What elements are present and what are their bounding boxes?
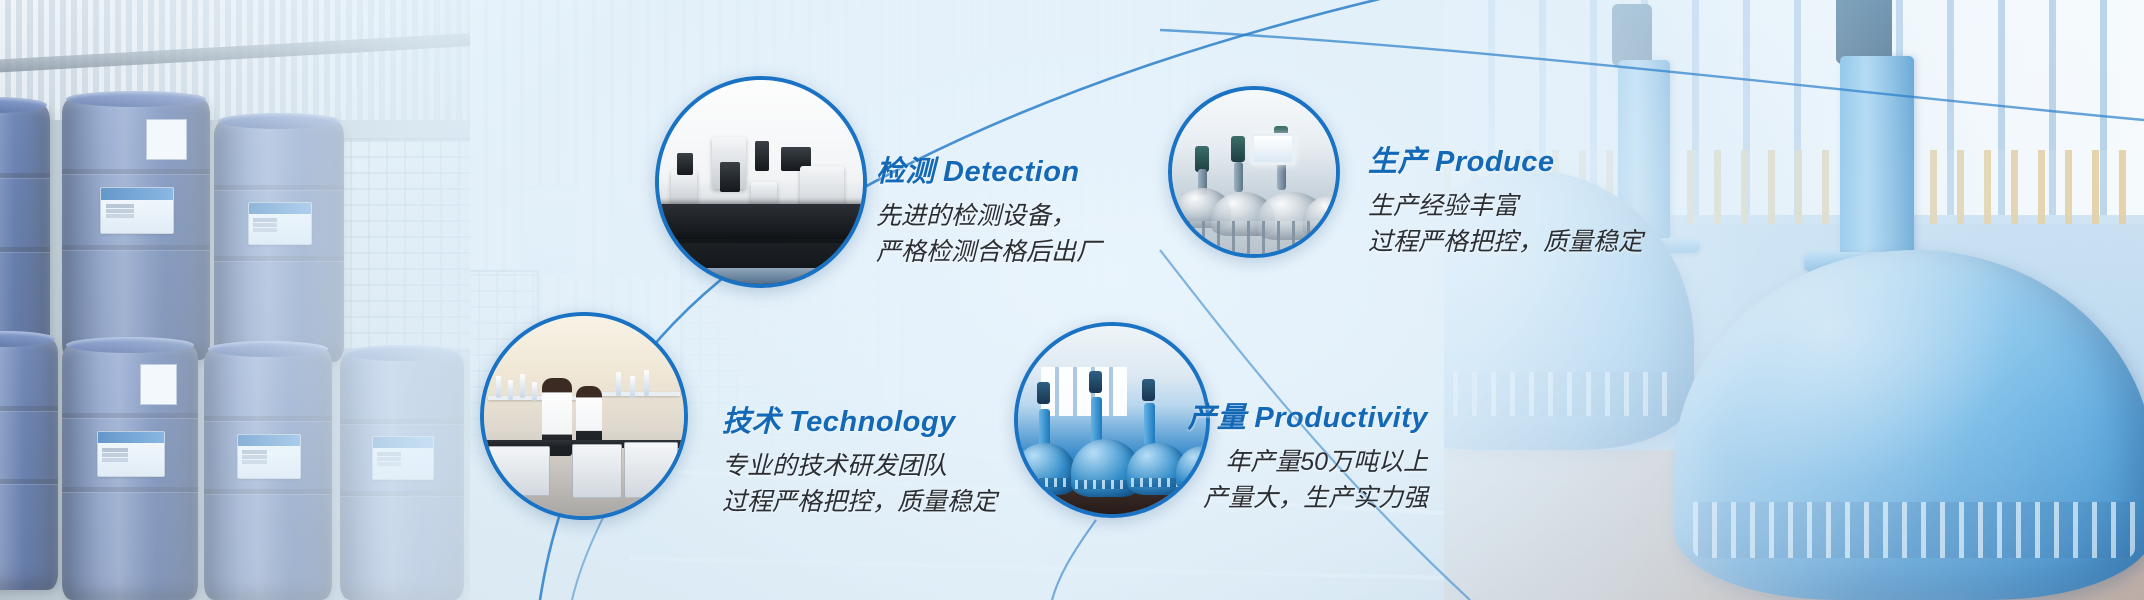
reactor-vessel <box>1674 250 2144 600</box>
drum-hazard-label <box>140 364 177 404</box>
reactor-shaft <box>1840 56 1914 256</box>
feature-heading-cn: 生产 <box>1368 146 1427 178</box>
reagent-bottle <box>630 376 635 398</box>
feature-heading-cn: 产量 <box>1187 402 1246 434</box>
feature-text-productivity: 产量Productivity 年产量50万吨以上 产量大，生产实力强 <box>950 394 1428 516</box>
chemical-drum <box>62 344 198 600</box>
drum-rim <box>344 345 461 361</box>
bench-base <box>679 268 838 284</box>
drum-rim <box>208 341 328 357</box>
reagent-bottle <box>520 374 525 398</box>
hall-window <box>1251 133 1295 165</box>
photo-circle-detection <box>655 76 867 288</box>
background-chemical-drums <box>0 0 470 600</box>
chemical-drum <box>0 338 58 590</box>
drum-hazard-label <box>146 119 186 160</box>
feature-line: 严格检测合格后出厂 <box>876 235 1101 271</box>
detection-photo <box>659 80 863 284</box>
hall-railing <box>1172 221 1336 254</box>
reagent-bottle <box>532 382 537 401</box>
drum-rim <box>66 91 205 107</box>
technology-photo <box>484 316 684 516</box>
reagent-bottle <box>496 376 501 398</box>
instrument <box>755 141 769 171</box>
ibc-tote <box>330 138 470 352</box>
company-strength-banner: 检测Detection 先进的检测设备， 严格检测合格后出厂 生产Produce… <box>0 0 2144 600</box>
chemical-drum <box>62 98 210 360</box>
feature-text-produce: 生产Produce 生产经验丰富 过程严格把控，质量稳定 <box>1368 138 1643 260</box>
reactor-motor <box>1231 136 1245 162</box>
reactor-motor <box>1195 146 1209 172</box>
produce-photo <box>1172 90 1336 254</box>
reactor-bolt-ring <box>1444 372 1681 417</box>
photo-circle-technology <box>480 312 688 520</box>
feature-line: 先进的检测设备， <box>876 199 1101 235</box>
instrument <box>751 182 777 204</box>
lab-cabinet <box>572 444 622 498</box>
feature-line: 年产量50万吨以上 <box>950 445 1428 481</box>
background-blue-reactors <box>1444 0 2144 600</box>
feature-heading-detection: 检测Detection <box>876 148 1101 190</box>
reagent-bottle <box>644 370 649 396</box>
feature-line: 产量大，生产实力强 <box>950 481 1428 517</box>
drum-product-label <box>372 436 434 480</box>
chemical-drum <box>204 348 332 600</box>
feature-line: 过程严格把控，质量稳定 <box>1368 225 1643 261</box>
reactor-motor <box>1836 0 1892 64</box>
reactor-bolt-ring <box>1693 502 2135 558</box>
instrument <box>720 162 740 192</box>
feature-heading-produce: 生产Produce <box>1368 138 1643 180</box>
feature-line: 生产经验丰富 <box>1368 189 1643 225</box>
lab-cabinet <box>488 446 550 496</box>
feature-heading-en: Detection <box>943 156 1080 188</box>
kettle-motor <box>1089 371 1102 393</box>
photo-circle-produce <box>1168 86 1340 258</box>
reactor-shaft <box>1234 162 1243 192</box>
feature-heading-en: Productivity <box>1254 402 1428 434</box>
lab-cabinet <box>624 442 678 498</box>
drum-rim <box>218 113 340 129</box>
feature-heading-cn: 技术 <box>722 406 781 438</box>
feature-heading-en: Produce <box>1435 146 1555 178</box>
reagent-bottle <box>508 380 513 400</box>
reactor-motor <box>1612 4 1652 66</box>
drum-product-label <box>248 202 312 245</box>
feature-text-detection: 检测Detection 先进的检测设备， 严格检测合格后出厂 <box>876 148 1101 270</box>
feature-heading-cn: 检测 <box>876 156 935 188</box>
feature-heading-productivity: 产量Productivity <box>950 394 1428 436</box>
chemical-drum <box>0 104 50 359</box>
drum-product-label <box>237 434 300 479</box>
lab-technician <box>576 386 602 448</box>
hall-window <box>520 186 578 276</box>
feature-heading-en: Technology <box>789 406 956 438</box>
instrument <box>677 153 693 175</box>
chemical-drum <box>214 120 344 362</box>
drum-rim <box>66 337 194 353</box>
drum-product-label <box>97 431 164 477</box>
drum-product-label <box>100 187 173 234</box>
lab-bench <box>655 204 867 239</box>
chemical-drum <box>340 352 464 600</box>
reagent-bottle <box>616 372 621 396</box>
